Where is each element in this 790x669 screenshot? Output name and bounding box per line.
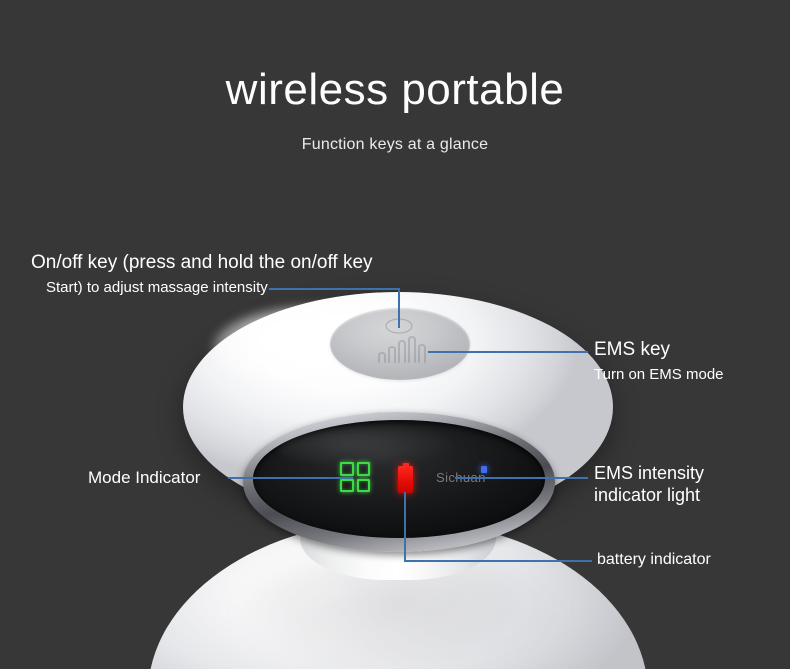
callout-onoff-key: On/off key (press and hold the on/off ke…	[31, 250, 373, 300]
mode-indicator-cell	[357, 479, 371, 493]
device-base-shading	[235, 556, 565, 669]
mode-indicator-cell	[340, 479, 354, 493]
display-chrome-rim	[243, 412, 555, 552]
ems-bars-icon[interactable]	[374, 336, 430, 364]
battery-icon-cap	[403, 463, 409, 467]
device-base	[148, 520, 648, 669]
callout-battery-indicator: battery indicator	[597, 549, 711, 571]
leader-line-battery-horizontal	[404, 560, 592, 562]
callout-intensity-line1: EMS intensity	[594, 462, 704, 484]
leader-line-onoff-vertical	[398, 288, 400, 328]
device-neck	[300, 470, 496, 580]
ems-intensity-led	[481, 466, 487, 473]
display-glass-reflection	[275, 426, 455, 466]
callout-mode-indicator: Mode Indicator	[88, 467, 200, 489]
page-title: wireless portable	[0, 66, 790, 114]
device-head-highlight	[213, 306, 423, 392]
battery-icon	[398, 463, 413, 493]
callout-onoff-line1: On/off key (press and hold the on/off ke…	[31, 250, 373, 276]
leader-line-ems-intensity	[455, 477, 588, 479]
leader-line-mode-indicator	[228, 477, 353, 479]
callout-mode-line1: Mode Indicator	[88, 467, 200, 489]
mode-indicator-cell	[357, 462, 371, 476]
battery-icon-body	[398, 466, 413, 493]
callout-ems-key: EMS key Turn on EMS mode	[594, 337, 724, 387]
top-control-pad[interactable]	[330, 308, 470, 380]
callout-ems-intensity: EMS intensity indicator light	[594, 462, 704, 506]
display-screen	[253, 420, 545, 538]
leader-line-ems-key	[428, 351, 588, 353]
callout-onoff-line2: Start) to adjust massage intensity	[46, 276, 373, 300]
callout-battery-line1: battery indicator	[597, 549, 711, 571]
infographic-canvas: Sichuan wireless portable Function keys …	[0, 0, 790, 669]
callout-intensity-line2: indicator light	[594, 484, 704, 506]
callout-ems-line2: Turn on EMS mode	[594, 363, 724, 387]
mode-indicator-cell	[340, 462, 354, 476]
page-subtitle: Function keys at a glance	[0, 136, 790, 154]
callout-ems-line1: EMS key	[594, 337, 724, 363]
leader-line-battery-vertical	[404, 492, 406, 562]
